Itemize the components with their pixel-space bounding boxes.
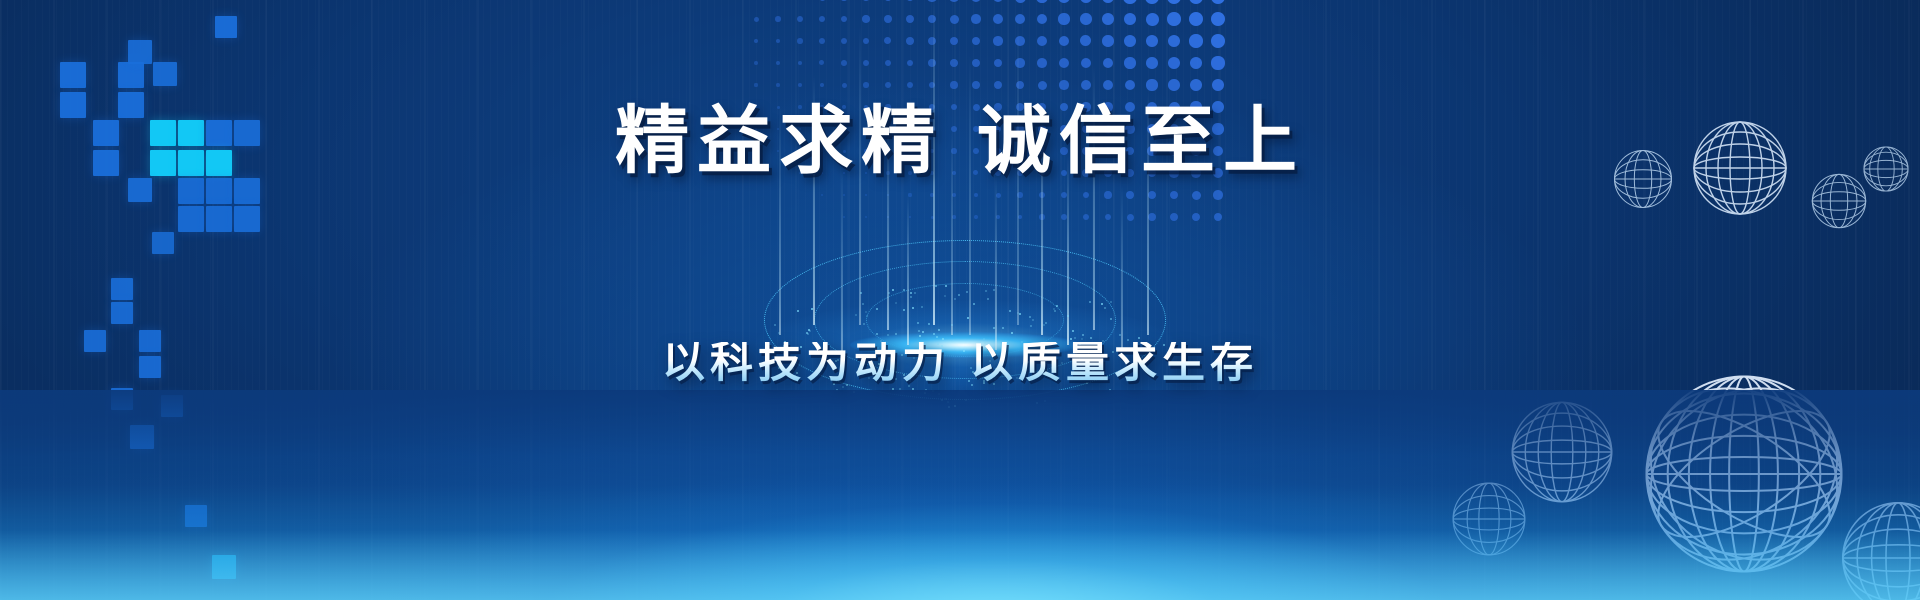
halftone-dot — [1148, 213, 1156, 221]
glow-speck — [935, 285, 937, 287]
glow-speck — [863, 323, 865, 325]
halftone-dot — [931, 216, 934, 219]
halftone-dot — [884, 15, 892, 23]
halftone-dot — [1212, 79, 1225, 92]
halftone-dot — [862, 0, 870, 1]
halftone-dot — [1083, 192, 1090, 199]
glow-speck — [1053, 308, 1055, 310]
halftone-dot — [1167, 0, 1181, 4]
halftone-dot — [1124, 13, 1137, 26]
globe-icon-small-d — [1450, 480, 1528, 558]
glow-speck — [967, 317, 969, 319]
halftone-dot — [1211, 56, 1224, 69]
halftone-dot — [884, 37, 891, 44]
glow-speck — [887, 334, 889, 336]
halftone-dot — [1059, 80, 1068, 89]
mosaic-pixel — [212, 555, 236, 579]
glow-speck — [1019, 313, 1021, 315]
perspective-grid-floor-icon — [0, 390, 1920, 600]
halftone-dot — [1080, 35, 1091, 46]
halftone-dot — [1170, 191, 1179, 200]
halftone-dot — [863, 82, 868, 87]
light-streak — [907, 195, 909, 345]
halftone-dot — [972, 37, 981, 46]
glow-speck — [1104, 307, 1106, 309]
halftone-dot — [971, 0, 981, 2]
glow-speck — [1110, 318, 1112, 320]
halftone-dot — [994, 59, 1003, 68]
halftone-dot — [974, 215, 978, 219]
halftone-dot — [863, 60, 869, 66]
halftone-dot — [754, 17, 759, 22]
glow-speck — [1044, 400, 1046, 402]
glow-speck — [932, 390, 934, 392]
glow-speck — [985, 290, 987, 292]
glow-speck — [941, 399, 943, 401]
mosaic-pixel — [234, 206, 260, 232]
halftone-dot — [798, 61, 803, 66]
halftone-dot — [1168, 79, 1180, 91]
glow-speck — [899, 388, 901, 390]
halftone-dot — [775, 16, 781, 22]
halftone-dot — [1189, 34, 1202, 47]
halftone-dot — [907, 60, 914, 67]
halftone-dot — [862, 15, 869, 22]
halftone-dot — [841, 60, 847, 66]
halftone-dot — [1127, 214, 1134, 221]
halftone-dot — [819, 0, 826, 1]
glow-speck — [993, 289, 995, 291]
glow-speck — [778, 332, 780, 334]
halftone-dot — [1189, 0, 1203, 4]
halftone-dot — [1102, 35, 1114, 47]
glow-speck — [1072, 330, 1074, 332]
halftone-dot — [909, 216, 912, 219]
halftone-dot — [1145, 0, 1159, 4]
halftone-dot — [928, 15, 937, 24]
glow-speck — [855, 314, 857, 316]
halftone-dot — [972, 81, 980, 89]
glow-speck — [808, 329, 810, 331]
glow-speck — [993, 327, 995, 329]
halftone-dot — [842, 83, 847, 88]
vertical-streak-overlay-wide — [0, 0, 1920, 600]
halftone-dot — [798, 83, 802, 87]
halftone-dot — [996, 215, 1000, 219]
halftone-dot — [1036, 0, 1048, 3]
mosaic-pixel — [130, 425, 154, 449]
glow-speck — [987, 298, 989, 300]
halftone-dot — [950, 59, 958, 67]
halftone-dot — [1105, 214, 1112, 221]
halftone-dot — [754, 61, 758, 65]
halftone-dot — [1015, 36, 1025, 46]
halftone-dot — [1192, 213, 1200, 221]
mosaic-pixel — [111, 388, 133, 410]
halftone-dot — [971, 14, 981, 24]
vertical-streak-overlay — [0, 0, 1920, 600]
halftone-dot — [1211, 0, 1225, 4]
halftone-dot — [885, 60, 892, 67]
halftone-dot — [950, 15, 959, 24]
glow-speck — [903, 309, 905, 311]
glow-speck — [954, 298, 956, 300]
globe-icon-largest — [1638, 368, 1850, 580]
glow-speck — [892, 289, 894, 291]
mosaic-pixel — [128, 40, 152, 64]
halftone-dot — [993, 36, 1002, 45]
glow-speck — [938, 329, 940, 331]
glow-speck — [860, 292, 862, 294]
halftone-dot — [1102, 0, 1115, 3]
light-streak — [1121, 185, 1123, 350]
halftone-dot — [1148, 191, 1156, 199]
hero-banner: 精益求精诚信至上 以科技为动力以质量求生存 — [0, 0, 1920, 600]
glow-speck — [853, 391, 855, 393]
mosaic-pixel — [185, 505, 207, 527]
mosaic-pixel — [60, 62, 86, 88]
halftone-dot — [1190, 79, 1202, 91]
halftone-dot — [1213, 190, 1222, 199]
halftone-dot — [928, 37, 936, 45]
halftone-dot — [1170, 213, 1178, 221]
halftone-dot — [776, 39, 781, 44]
glow-speck — [933, 333, 935, 335]
glow-speck — [973, 303, 975, 305]
glow-speck — [807, 333, 809, 335]
halftone-dot — [908, 193, 911, 196]
glow-speck — [922, 331, 924, 333]
halftone-dot — [1061, 192, 1067, 198]
mosaic-pixel — [206, 206, 232, 232]
halftone-dot — [930, 193, 934, 197]
glow-speck — [903, 289, 905, 291]
glow-speck — [921, 306, 923, 308]
page-subtitle: 以科技为动力以质量求生存 — [0, 342, 1920, 385]
glow-speck — [806, 332, 808, 334]
glow-speck — [954, 405, 956, 407]
glow-speck — [912, 388, 914, 390]
halftone-dot — [929, 82, 936, 89]
halftone-dot — [950, 81, 957, 88]
halftone-dot — [1015, 58, 1024, 67]
glow-speck — [1101, 303, 1103, 305]
halftone-dot — [797, 38, 802, 43]
halftone-dot — [887, 216, 889, 218]
globe-icon-medium-b — [1838, 498, 1920, 600]
glow-speck — [895, 302, 897, 304]
glow-speck — [1043, 324, 1045, 326]
glow-speck — [876, 333, 878, 335]
halftone-dot — [1059, 36, 1070, 47]
glow-speck — [866, 315, 868, 317]
glow-speck — [914, 292, 916, 294]
halftone-dot — [1146, 35, 1159, 48]
pixel-mosaic-icon — [0, 0, 320, 600]
halftone-dot — [952, 193, 956, 197]
halftone-dot — [952, 215, 956, 219]
halftone-dot — [1039, 192, 1045, 198]
halftone-dot — [1080, 13, 1092, 25]
glow-speck — [910, 292, 912, 294]
headline-part-2: 诚信至上 — [977, 98, 1305, 184]
glow-speck — [1011, 332, 1013, 334]
halftone-dot — [907, 82, 913, 88]
glow-speck — [919, 335, 921, 337]
halftone-dot — [906, 37, 914, 45]
mosaic-pixel — [153, 62, 177, 86]
halftone-dot — [993, 0, 1004, 2]
halftone-dot — [1190, 57, 1203, 70]
glow-speck — [1082, 334, 1084, 336]
subline-part-1: 以科技为动力 — [662, 338, 950, 388]
glow-speck — [1036, 402, 1038, 404]
glow-speck — [958, 294, 960, 296]
halftone-dot — [1124, 57, 1135, 68]
halftone-dot — [1015, 14, 1025, 24]
halftone-dot — [1211, 12, 1225, 26]
glow-speck — [1045, 322, 1047, 324]
mosaic-pixel — [161, 395, 183, 417]
halftone-dot — [865, 194, 867, 196]
glow-speck — [1089, 301, 1091, 303]
mosaic-pixel — [111, 302, 133, 324]
glow-speck — [895, 333, 897, 335]
halftone-dot — [1061, 214, 1067, 220]
globe-icon-medium-a — [1508, 398, 1616, 506]
mosaic-pixel — [206, 178, 232, 204]
glow-speck — [910, 296, 912, 298]
halftone-dot — [819, 16, 825, 22]
glow-speck — [774, 324, 776, 326]
halftone-dot — [1211, 34, 1225, 48]
halftone-dot — [1192, 191, 1201, 200]
glow-speck — [1009, 310, 1011, 312]
halftone-dot — [1018, 215, 1023, 220]
page-title: 精益求精诚信至上 — [0, 104, 1920, 178]
glow-speck — [947, 401, 949, 403]
halftone-dot — [1103, 80, 1113, 90]
halftone-dot — [1017, 192, 1022, 197]
globe-icon-small-b — [1810, 172, 1868, 230]
glow-speck — [876, 308, 878, 310]
glow-speck — [797, 310, 799, 312]
glow-speck — [945, 285, 947, 287]
halftone-dot — [1146, 79, 1157, 90]
glow-speck — [865, 311, 867, 313]
halftone-dot — [754, 39, 758, 43]
glow-speck — [1029, 316, 1031, 318]
halftone-dot — [1037, 14, 1048, 25]
halftone-dot — [1102, 13, 1114, 25]
glow-speck — [1119, 334, 1121, 336]
light-streak — [995, 175, 997, 350]
halftone-dot — [820, 83, 825, 88]
halftone-dot — [797, 16, 803, 22]
halftone-dot — [1083, 214, 1089, 220]
halftone-dot — [1167, 12, 1181, 26]
halftone-dot — [1058, 13, 1069, 24]
halftone-dot — [928, 59, 935, 66]
glow-speck — [924, 392, 926, 394]
glow-speck — [1067, 315, 1069, 317]
glow-speck — [836, 389, 838, 391]
glow-speck — [888, 292, 890, 294]
glow-speck — [1030, 325, 1032, 327]
glow-speck — [811, 308, 813, 310]
mosaic-pixel — [215, 16, 237, 38]
glow-speck — [1054, 310, 1056, 312]
mosaic-pixel — [128, 178, 152, 202]
glow-speck — [862, 303, 864, 305]
halftone-dot — [1081, 80, 1091, 90]
glow-speck — [948, 406, 950, 408]
subline-part-2: 以质量求生存 — [970, 338, 1258, 388]
halftone-dot — [927, 0, 936, 2]
halftone-dot — [974, 193, 979, 198]
halftone-dot — [863, 38, 870, 45]
halftone-dot — [841, 16, 848, 23]
glow-speck — [1032, 319, 1034, 321]
halftone-dot — [1126, 191, 1134, 199]
halftone-dot — [840, 0, 848, 1]
halftone-dot — [884, 0, 892, 1]
halftone-dot — [819, 38, 825, 44]
glow-speck — [966, 291, 968, 293]
glow-speck — [1109, 389, 1111, 391]
glow-speck — [951, 324, 953, 326]
halftone-dot — [843, 216, 844, 217]
halftone-dot — [972, 59, 980, 67]
glow-speck — [1002, 327, 1004, 329]
halftone-dot — [754, 83, 757, 86]
halftone-dot — [1125, 80, 1136, 91]
halftone-dot — [1146, 57, 1158, 69]
halftone-dot — [1038, 81, 1047, 90]
mosaic-pixel — [178, 178, 204, 204]
glow-speck — [938, 393, 940, 395]
halftone-dot — [1146, 13, 1159, 26]
halftone-dot — [1080, 0, 1092, 3]
halftone-dot — [1058, 0, 1070, 3]
halftone-dot — [885, 82, 891, 88]
glow-speck — [912, 307, 914, 309]
halftone-dot — [821, 194, 822, 195]
halftone-dot — [843, 194, 845, 196]
halftone-dot — [906, 15, 914, 23]
halftone-dot — [1039, 214, 1044, 219]
glow-speck — [1056, 305, 1058, 307]
halftone-dot — [906, 0, 915, 1]
halftone-dot — [1168, 57, 1180, 69]
mosaic-pixel — [178, 206, 204, 232]
halftone-dot — [887, 194, 890, 197]
halftone-dot — [950, 37, 958, 45]
halftone-dot — [996, 193, 1001, 198]
halftone-dot — [1103, 58, 1114, 69]
halftone-dot — [1104, 191, 1111, 198]
halftone-dot — [1037, 36, 1047, 46]
mosaic-pixel — [234, 178, 260, 204]
light-streak — [841, 165, 843, 355]
glow-speck — [1017, 312, 1019, 314]
halftone-dot — [1015, 0, 1026, 3]
halftone-dot — [1016, 81, 1025, 90]
glow-speck — [928, 323, 930, 325]
mosaic-pixel — [118, 62, 144, 88]
halftone-dot — [1124, 35, 1136, 47]
glow-speck — [945, 398, 947, 400]
headline-part-1: 精益求精 — [615, 98, 943, 184]
halftone-dot — [865, 216, 867, 218]
halftone-dot — [1168, 35, 1181, 48]
halftone-dot — [1037, 58, 1047, 68]
light-streak — [969, 55, 971, 335]
halftone-dot — [1214, 213, 1223, 222]
glow-speck — [918, 330, 920, 332]
halftone-dot — [1081, 58, 1092, 69]
mosaic-pixel — [152, 232, 174, 254]
mosaic-pixel — [111, 278, 133, 300]
glow-speck — [944, 295, 946, 297]
glow-speck — [809, 330, 811, 332]
halftone-dot — [1059, 58, 1069, 68]
halftone-dot — [776, 83, 780, 87]
halftone-dot — [841, 38, 847, 44]
wireframe-globe-cluster-icon — [0, 0, 1920, 600]
halftone-dot — [994, 81, 1002, 89]
halftone-dot — [776, 61, 780, 65]
halftone-dot — [993, 14, 1003, 24]
halftone-dot — [949, 0, 959, 2]
glow-speck — [917, 322, 919, 324]
halftone-dot — [1189, 12, 1203, 26]
glow-speck — [925, 389, 927, 391]
halftone-dot — [1123, 0, 1136, 4]
halftone-dot — [819, 60, 824, 65]
glow-speck — [965, 399, 967, 401]
glow-speck — [1110, 301, 1112, 303]
